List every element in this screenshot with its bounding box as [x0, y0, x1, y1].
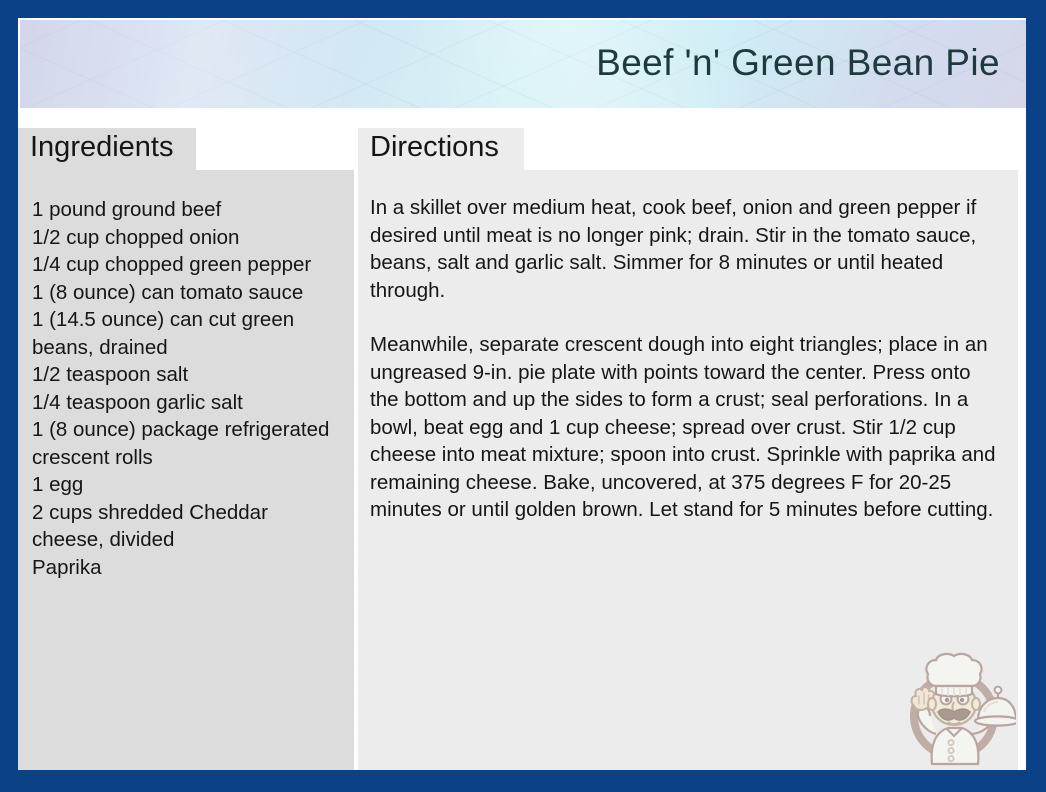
list-item: 1 (8 ounce) package refrigerated crescen… [32, 416, 340, 471]
frame-border-top [0, 0, 1046, 18]
list-item: 1/4 cup chopped green pepper [32, 251, 340, 279]
directions-section-tab: Directions [358, 128, 524, 170]
directions-heading: Directions [370, 131, 499, 164]
ingredients-heading: Ingredients [30, 131, 174, 164]
frame-border-bottom [0, 770, 1046, 792]
list-item: 1/2 cup chopped onion [32, 224, 340, 252]
list-item: 1 (14.5 ounce) can cut green beans, drai… [32, 306, 340, 361]
recipe-card: Beef 'n' Green Bean Pie [0, 0, 1046, 792]
list-item: 1 pound ground beef [32, 196, 340, 224]
direction-paragraph: In a skillet over medium heat, cook beef… [370, 194, 1004, 304]
list-item: 1/4 teaspoon garlic salt [32, 389, 340, 417]
frame-border-right [1026, 0, 1046, 792]
list-item: Paprika [32, 554, 340, 582]
list-item: 1 egg [32, 471, 340, 499]
frame-border-left [0, 0, 18, 792]
list-item: 2 cups shredded Cheddar cheese, divided [32, 499, 340, 554]
header-banner: Beef 'n' Green Bean Pie [20, 20, 1026, 108]
directions-panel: In a skillet over medium heat, cook beef… [358, 170, 1018, 770]
list-item: 1 (8 ounce) can tomato sauce [32, 279, 340, 307]
direction-paragraph: Meanwhile, separate crescent dough into … [370, 331, 1004, 524]
ingredients-panel: 1 pound ground beef 1/2 cup chopped onio… [18, 170, 354, 770]
ingredients-section-tab: Ingredients [18, 128, 196, 170]
recipe-title: Beef 'n' Green Bean Pie [596, 42, 1000, 84]
list-item: 1/2 teaspoon salt [32, 361, 340, 389]
